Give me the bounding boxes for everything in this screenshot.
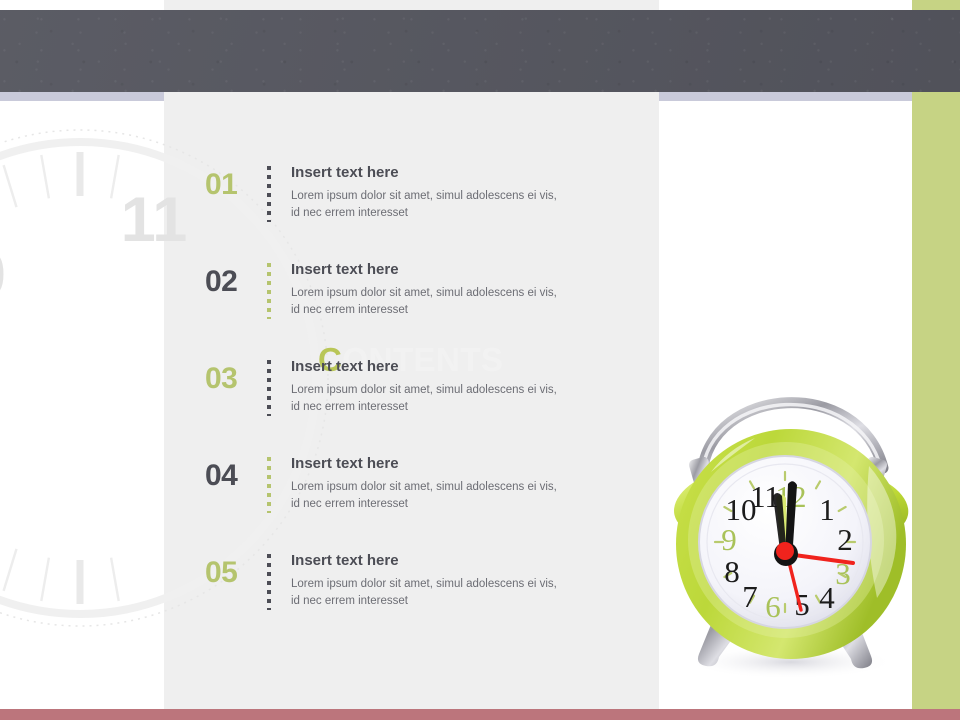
list-item[interactable]: 01 Insert text here Lorem ipsum dolor si… xyxy=(205,155,645,252)
clock-numeral-8: 8 xyxy=(724,554,740,589)
watermark-numeral-10: 10 xyxy=(0,240,6,310)
item-text-block: Insert text here Lorem ipsum dolor sit a… xyxy=(291,349,645,416)
clock-numeral-4: 4 xyxy=(819,580,835,615)
item-body-line-1: Lorem ipsum dolor sit amet, simul adoles… xyxy=(291,576,621,593)
item-number: 02 xyxy=(205,252,267,297)
item-text-block: Insert text here Lorem ipsum dolor sit a… xyxy=(291,446,645,513)
bottom-accent-bar xyxy=(0,709,960,720)
clock-numeral-2: 2 xyxy=(837,522,853,557)
contents-list: 01 Insert text here Lorem ipsum dolor si… xyxy=(205,155,645,640)
clock-numeral-9: 9 xyxy=(721,522,737,557)
item-body-line-2: id nec errem interesset xyxy=(291,399,621,416)
item-text-block: Insert text here Lorem ipsum dolor sit a… xyxy=(291,155,645,222)
alarm-clock-svg: 12 1 2 3 4 5 6 7 8 9 10 11 xyxy=(655,332,920,682)
alarm-clock-photo: 12 1 2 3 4 5 6 7 8 9 10 11 xyxy=(655,332,920,682)
item-number: 04 xyxy=(205,446,267,491)
list-item[interactable]: 04 Insert text here Lorem ipsum dolor si… xyxy=(205,446,645,543)
item-heading: Insert text here xyxy=(291,358,645,375)
dotted-divider-icon xyxy=(267,457,277,513)
lavender-band-stripe-cut xyxy=(912,92,960,101)
clock-numeral-1: 1 xyxy=(819,492,835,527)
item-text-block: Insert text here Lorem ipsum dolor sit a… xyxy=(291,252,645,319)
slide-canvas: 11 10 9 8 CONTENTS xyxy=(0,0,960,720)
item-number: 05 xyxy=(205,543,267,588)
list-item[interactable]: 05 Insert text here Lorem ipsum dolor si… xyxy=(205,543,645,640)
item-body-line-2: id nec errem interesset xyxy=(291,593,621,610)
item-heading: Insert text here xyxy=(291,164,645,181)
item-body-line-1: Lorem ipsum dolor sit amet, simul adoles… xyxy=(291,285,621,302)
item-heading: Insert text here xyxy=(291,261,645,278)
lavender-band-panel-cut xyxy=(164,92,659,101)
dotted-divider-icon xyxy=(267,166,277,222)
item-body-line-1: Lorem ipsum dolor sit amet, simul adoles… xyxy=(291,479,621,496)
dotted-divider-icon xyxy=(267,554,277,610)
item-number: 03 xyxy=(205,349,267,394)
item-text-block: Insert text here Lorem ipsum dolor sit a… xyxy=(291,543,645,610)
dotted-divider-icon xyxy=(267,263,277,319)
header-band xyxy=(0,10,960,92)
clock-numeral-6: 6 xyxy=(765,589,781,624)
item-body-line-2: id nec errem interesset xyxy=(291,496,621,513)
item-body-line-2: id nec errem interesset xyxy=(291,302,621,319)
list-item[interactable]: 02 Insert text here Lorem ipsum dolor si… xyxy=(205,252,645,349)
clock-numeral-7: 7 xyxy=(742,579,758,614)
item-number: 01 xyxy=(205,155,267,200)
item-body-line-1: Lorem ipsum dolor sit amet, simul adoles… xyxy=(291,188,621,205)
item-body-line-2: id nec errem interesset xyxy=(291,205,621,222)
list-item[interactable]: 03 Insert text here Lorem ipsum dolor si… xyxy=(205,349,645,446)
item-heading: Insert text here xyxy=(291,552,645,569)
dotted-divider-icon xyxy=(267,360,277,416)
item-body-line-1: Lorem ipsum dolor sit amet, simul adoles… xyxy=(291,382,621,399)
item-heading: Insert text here xyxy=(291,455,645,472)
header-texture xyxy=(0,10,960,92)
